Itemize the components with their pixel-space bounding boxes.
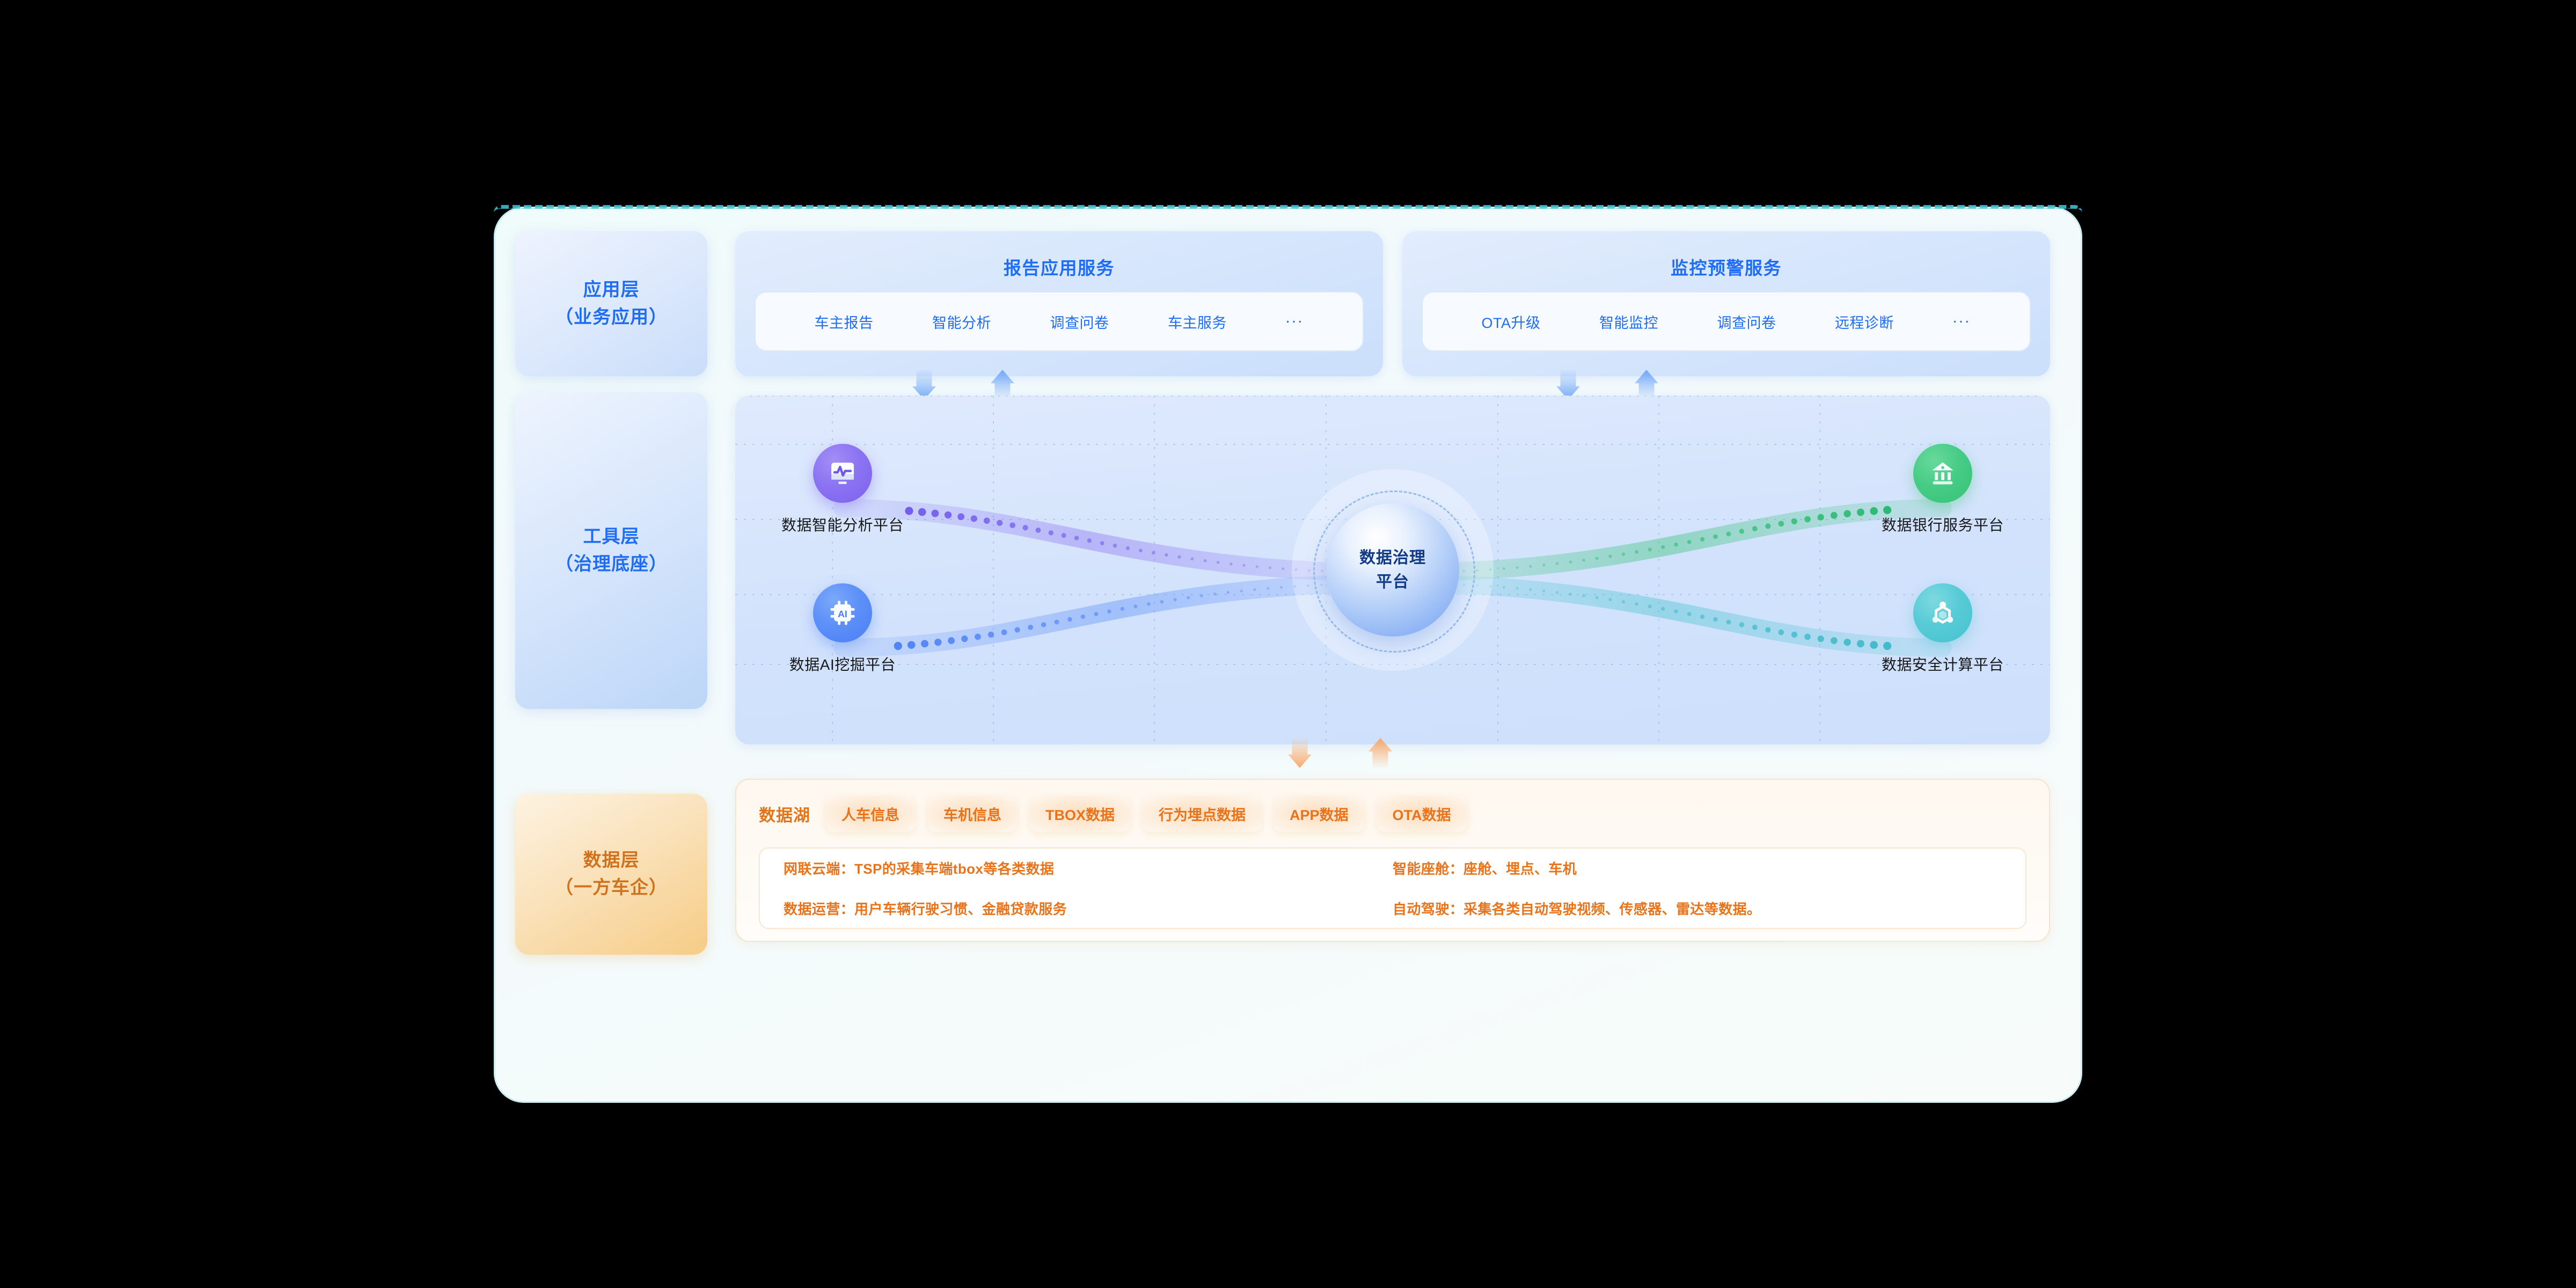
app-item[interactable]: 车主服务 [1168,311,1227,332]
layer-box-tool[interactable]: 工具层 （治理底座） [515,392,707,709]
data-lake-title: 数据湖 [759,802,810,826]
layer-application-sub: （业务应用） [555,304,668,331]
layer-application-name: 应用层 [583,276,640,304]
app-card-items: 车主报告 智能分析 调查问卷 车主服务 ... [755,291,1364,352]
app-item[interactable]: 调查问卷 [1717,311,1776,332]
arrow-down-icon [1288,738,1312,768]
hub-label-line1: 数据治理 [1359,546,1426,570]
hub-label-line2: 平台 [1376,570,1409,594]
node-label: 数据AI挖掘平台 [781,653,904,675]
data-lake-tag[interactable]: 车机信息 [927,796,1018,832]
arrow-up-icon [1368,738,1392,768]
data-lake-tag[interactable]: APP数据 [1274,796,1365,832]
node-data-security-computing-platform[interactable]: 数据安全计算平台 [1881,583,2004,675]
app-item[interactable]: 调查问卷 [1050,311,1109,332]
app-card-report-service[interactable]: 报告应用服务 车主报告 智能分析 调查问卷 车主服务 ... [735,231,1383,376]
layer-data-sub: （一方车企） [555,874,668,902]
layer-tool-name: 工具层 [583,523,640,551]
node-data-bank-service-platform[interactable]: 数据银行服务平台 [1881,444,2004,535]
node-label: 数据安全计算平台 [1881,653,2004,675]
layer-content-column: 报告应用服务 车主报告 智能分析 调查问卷 车主服务 ... 监控预警服务 OT… [735,231,2050,942]
bank-icon [1913,444,1972,503]
node-data-intelligent-analysis-platform[interactable]: 数据智能分析平台 [781,444,904,535]
hub-data-governance-platform[interactable]: 数据治理 平台 [1307,484,1479,656]
app-card-items: OTA升级 智能监控 调查问卷 远程诊断 ... [1422,291,2031,352]
bank-glyph [1928,458,1958,488]
node-data-ai-mining-platform[interactable]: AI 数据AI挖掘平台 [781,583,904,675]
data-lake-note: 自动驾驶：采集各类自动驾驶视频、传感器、雷达等数据。 [1393,898,2002,918]
app-item[interactable]: 车主报告 [814,311,873,332]
arrows-tool-to-data [735,744,2050,764]
ai-chip-glyph: AI [828,598,858,628]
data-lake-notes: 网联云端：TSP的采集车端tbox等各类数据 智能座舱：座舱、埋点、车机 数据运… [759,847,2026,929]
app-card-title: 监控预警服务 [1671,254,1782,280]
layer-tool-sub: （治理底座） [555,551,668,578]
tool-layer-panel: 数据治理 平台 数据智能分析平台 [735,396,2050,744]
node-label: 数据银行服务平台 [1881,514,2004,535]
data-lake-tag[interactable]: OTA数据 [1377,796,1467,832]
app-item[interactable]: 智能监控 [1599,311,1658,332]
data-lake-tag[interactable]: TBOX数据 [1029,796,1131,832]
data-lake-note: 网联云端：TSP的采集车端tbox等各类数据 [784,858,1393,878]
data-lake-tag[interactable]: 人车信息 [825,796,916,832]
app-card-title: 报告应用服务 [1004,254,1115,280]
data-lake-note: 数据运营：用户车辆行驶习惯、金融贷款服务 [784,898,1393,918]
app-item-more[interactable]: ... [1285,309,1304,327]
data-lake-tag-row: 数据湖 人车信息 车机信息 TBOX数据 行为埋点数据 APP数据 OTA数据 [759,796,2026,832]
data-lake-tag[interactable]: 行为埋点数据 [1143,796,1262,832]
monitor-pulse-icon [813,444,872,503]
svg-text:AI: AI [838,609,847,619]
ai-chip-icon: AI [813,583,872,642]
app-item[interactable]: 远程诊断 [1835,311,1894,332]
layer-box-application[interactable]: 应用层 （业务应用） [515,231,707,376]
secure-network-icon [1913,583,1972,642]
layer-data-name: 数据层 [583,847,640,874]
app-item-more[interactable]: ... [1952,309,1971,327]
architecture-container: 应用层 （业务应用） 工具层 （治理底座） 数据层 （一方车企） 报告应用服务 … [494,207,2082,1103]
data-lake-note: 智能座舱：座舱、埋点、车机 [1393,858,2002,878]
layer-box-data[interactable]: 数据层 （一方车企） [515,794,707,955]
app-item[interactable]: OTA升级 [1481,311,1540,332]
monitor-pulse-glyph [828,458,858,488]
node-label: 数据智能分析平台 [781,514,904,535]
layer-rail: 应用层 （业务应用） 工具层 （治理底座） 数据层 （一方车企） [515,231,707,1079]
secure-network-glyph [1928,598,1958,628]
arrows-application-to-tool [735,376,2050,396]
application-layer-row: 报告应用服务 车主报告 智能分析 调查问卷 车主服务 ... 监控预警服务 OT… [735,231,2050,376]
diagram-canvas: 应用层 （业务应用） 工具层 （治理底座） 数据层 （一方车企） 报告应用服务 … [0,0,2576,1288]
app-item[interactable]: 智能分析 [932,311,991,332]
app-card-monitor-service[interactable]: 监控预警服务 OTA升级 智能监控 调查问卷 远程诊断 ... [1402,231,2050,376]
data-lake-panel: 数据湖 人车信息 车机信息 TBOX数据 行为埋点数据 APP数据 OTA数据 … [735,779,2050,942]
hub-core: 数据治理 平台 [1326,503,1459,636]
